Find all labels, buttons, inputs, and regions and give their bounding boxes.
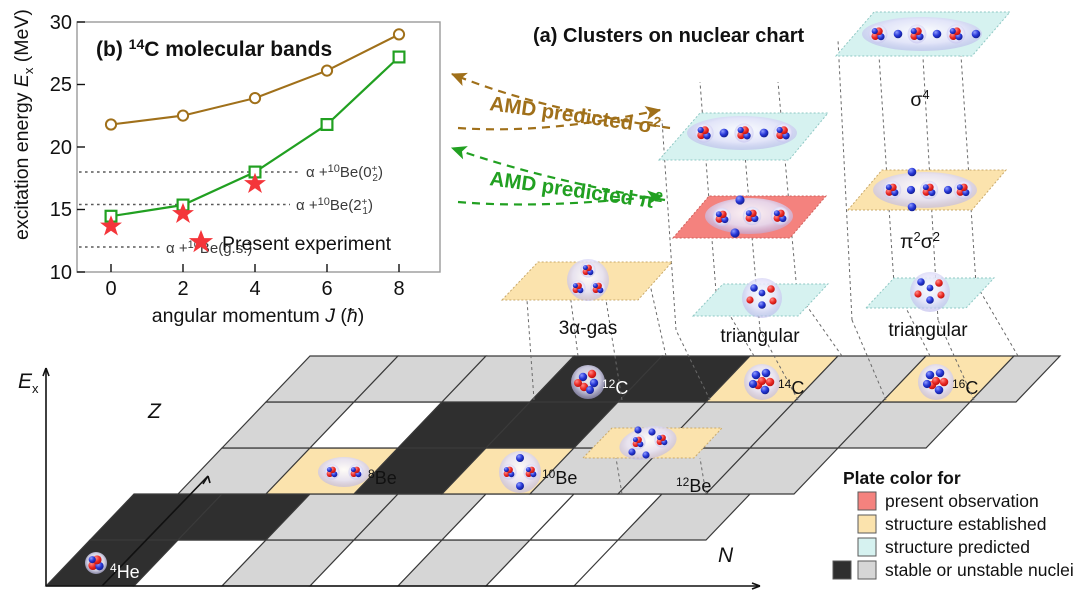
legend-label-stable: stable or unstable nuclei [885, 560, 1074, 580]
amd-pi-label: AMD predicted π2 [488, 165, 664, 214]
plate-label-c16-triangular: triangular [888, 320, 968, 341]
plate-c14-triangular: triangular [693, 278, 828, 347]
legend-label-predicted: structure predicted [885, 537, 1030, 557]
y-tick-label: 10 [50, 262, 72, 284]
legend-swatch-stable-dark [833, 561, 851, 579]
axis-label-ex: Ex [18, 370, 39, 396]
plate-label-c14-triangular: triangular [720, 326, 800, 347]
axis-label-z: Z [147, 400, 162, 423]
panel-a-title: (a) Clusters on nuclear chart [533, 25, 805, 47]
plate-icon-linear-chain-3 [687, 116, 797, 150]
legend-label-experiment: Present experiment [222, 233, 392, 255]
plate-3alpha-gas: 3α-gas [502, 259, 672, 339]
x-axis-title: angular momentum J (ħ) [152, 305, 364, 327]
threshold-label-0plus: α +10Be(0+2) [306, 163, 383, 184]
plate-color-legend: Plate color for present observation stru… [833, 468, 1074, 580]
legend-title: Plate color for [843, 468, 961, 488]
legend-swatch-stable-gray [858, 561, 876, 579]
plate-c16-pi2sigma2: π2σ2 [848, 168, 1006, 253]
x-tick-labels: 0 2 4 6 8 [105, 278, 404, 300]
legend-swatch-predicted [858, 538, 876, 556]
legend-swatch-established [858, 515, 876, 533]
y-tick-label: 30 [50, 12, 72, 34]
plate-icon-linear-chain-4 [862, 17, 982, 51]
x-tick-label: 6 [321, 278, 332, 300]
annotation-amd-sigma: AMD predicted σ2 [452, 74, 670, 139]
plate-c14-pi2 [673, 195, 826, 238]
y-tick-label: 25 [50, 74, 72, 96]
y-tick-label: 20 [50, 137, 72, 159]
plate-label-c16-sigma4: σ4 [910, 87, 929, 111]
x-tick-label: 8 [393, 278, 404, 300]
plate-c16-triangular: triangular [866, 272, 994, 341]
plate-label-c16-pi2sigma2: π2σ2 [900, 229, 940, 253]
legend-label-established: structure established [885, 514, 1046, 534]
x-tick-label: 0 [105, 278, 116, 300]
y-tick-label: 15 [50, 199, 72, 221]
plate-label-3alpha-gas: 3α-gas [559, 318, 618, 339]
figure-root: 30 25 20 15 10 0 2 4 6 8 excitation ener… [0, 0, 1080, 596]
threshold-label-2plus: α +10Be(2+1) [296, 196, 373, 217]
plate-icon-compact-c14 [742, 278, 782, 318]
plate-icon-compact-c16 [910, 272, 950, 312]
amd-sigma-label: AMD predicted σ2 [488, 90, 662, 139]
y-axis-title: excitation energy Ex (MeV) [11, 9, 36, 240]
plate-icon-3alpha [567, 259, 609, 301]
legend-label-present: present observation [885, 491, 1039, 511]
y-tick-labels: 30 25 20 15 10 [50, 12, 72, 284]
legend-swatch-present [858, 492, 876, 510]
x-tick-label: 2 [177, 278, 188, 300]
axis-label-n: N [718, 544, 734, 567]
annotation-amd-pi: AMD predicted π2 [452, 148, 665, 214]
x-tick-label: 4 [249, 278, 260, 300]
panel-b-plot: 30 25 20 15 10 0 2 4 6 8 excitation ener… [11, 9, 440, 327]
plate-c14-sigma2 [659, 113, 828, 160]
